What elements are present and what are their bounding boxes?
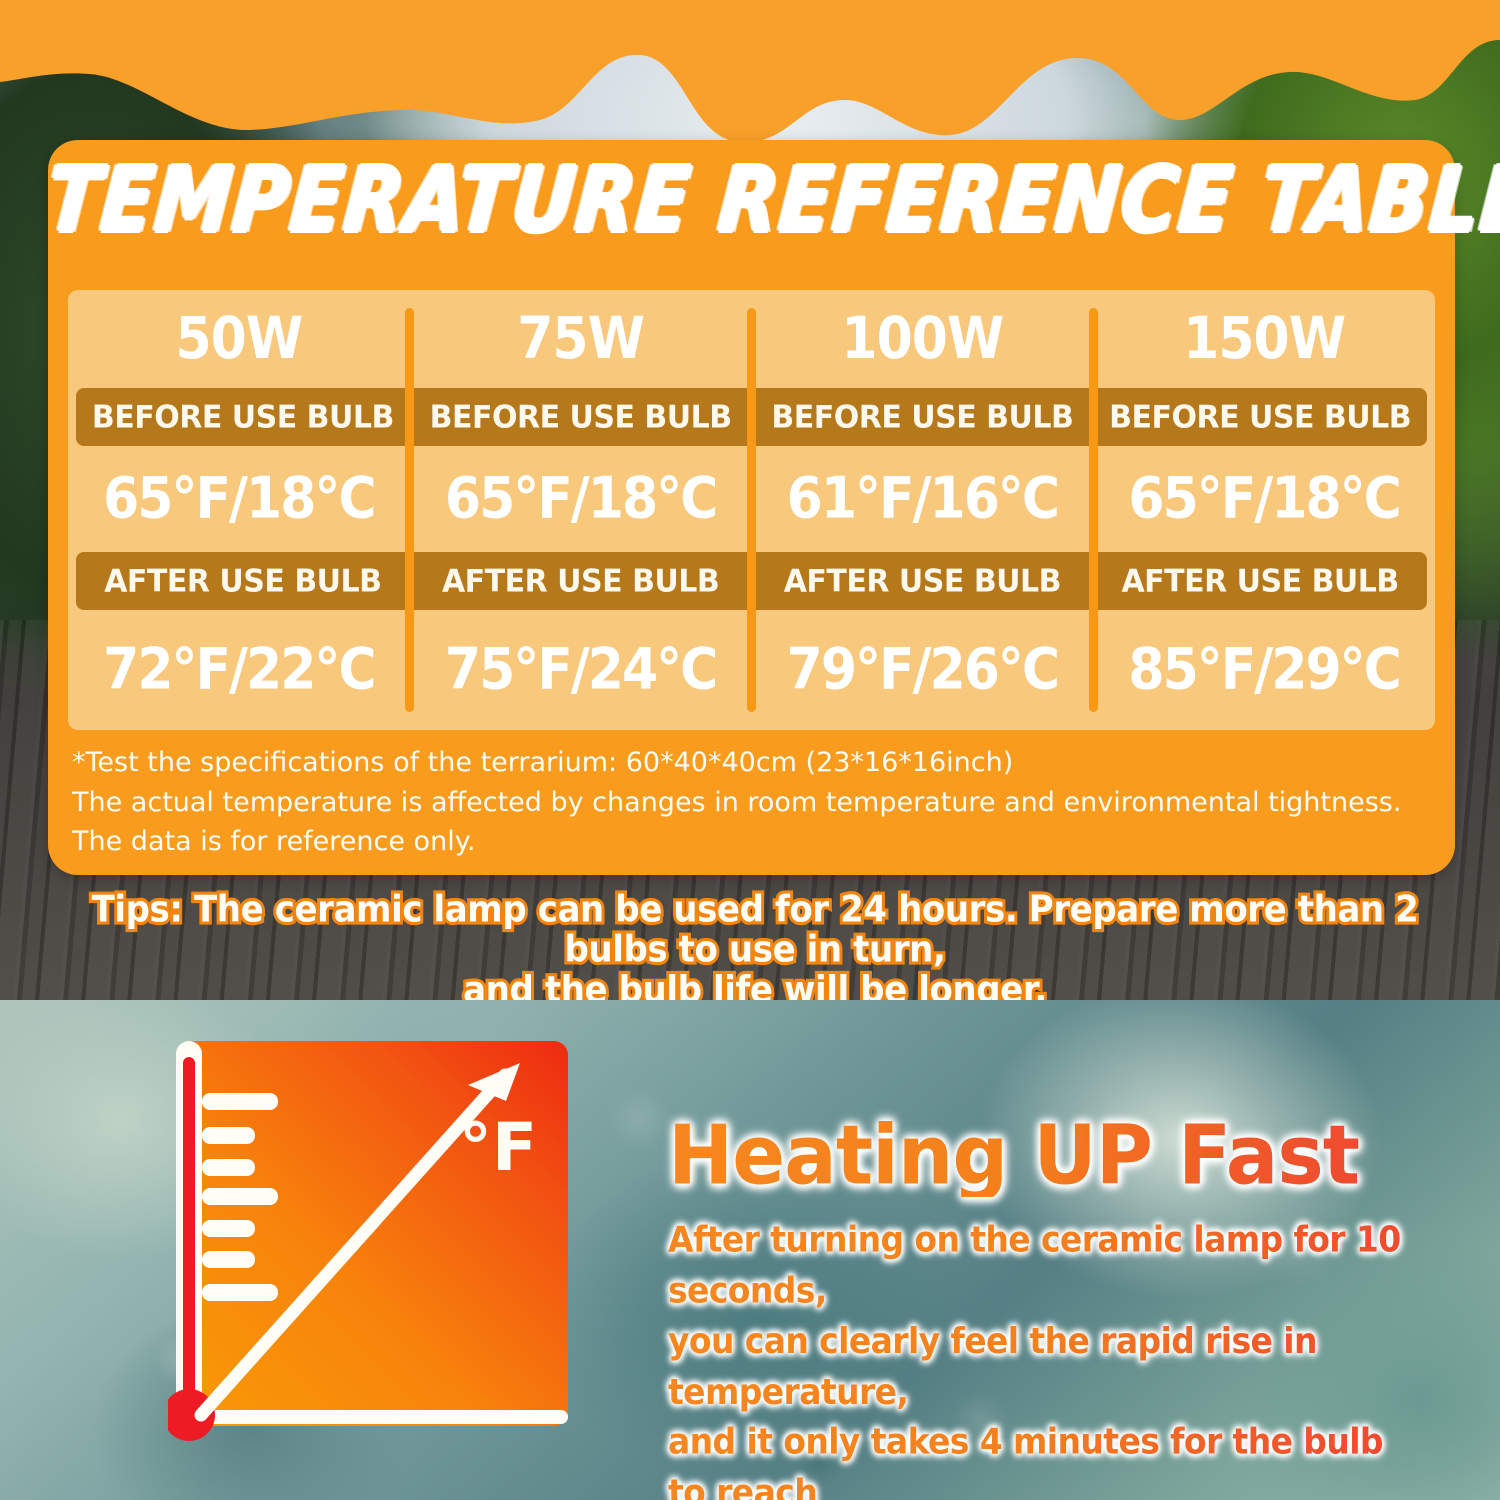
table-row: 65°F/18°C bbox=[410, 446, 752, 552]
column-divider bbox=[747, 308, 756, 712]
table-row: 61°F/16°C bbox=[752, 446, 1094, 552]
table-row: BEFORE USE BULB bbox=[752, 388, 1094, 446]
before-use-value: 61°F/16°C bbox=[787, 466, 1058, 532]
temperature-table: 50W 75W 100W 150W BEFORE USE BULB BEFORE… bbox=[68, 290, 1435, 730]
table-row: AFTER USE BULB bbox=[410, 552, 752, 610]
temperature-card: TEMPERATURE REFERENCE TABLE 50W 75W 100W… bbox=[48, 140, 1455, 875]
tips-text: Tips: The ceramic lamp can be used for 2… bbox=[50, 890, 1460, 1000]
table-row: 150W bbox=[1093, 290, 1435, 388]
unit-label-fahrenheit: °F bbox=[459, 1109, 537, 1186]
wattage-label: 50W bbox=[176, 305, 303, 372]
table-row: BEFORE USE BULB bbox=[68, 388, 410, 446]
table-row: 65°F/18°C bbox=[68, 446, 410, 552]
table-row: 75°F/24°C bbox=[410, 610, 752, 730]
table-row: AFTER USE BULB bbox=[752, 552, 1094, 610]
column-divider bbox=[405, 308, 414, 712]
before-use-label: BEFORE USE BULB bbox=[92, 399, 394, 436]
page-title: TEMPERATURE REFERENCE TABLE bbox=[44, 155, 1459, 245]
table-row: 65°F/18°C bbox=[1093, 446, 1435, 552]
before-use-label: BEFORE USE BULB bbox=[430, 399, 732, 436]
after-use-value: 72°F/22°C bbox=[103, 637, 374, 703]
before-use-label: BEFORE USE BULB bbox=[771, 399, 1073, 436]
after-use-value: 85°F/29°C bbox=[1128, 637, 1399, 703]
heating-headline: Heating UP Fast bbox=[668, 1115, 1448, 1197]
table-row: 72°F/22°C bbox=[68, 610, 410, 730]
table-footnote: *Test the specifications of the terrariu… bbox=[72, 743, 1432, 862]
temperature-reference-section: TEMPERATURE REFERENCE TABLE 50W 75W 100W… bbox=[0, 0, 1500, 1000]
table-row: 85°F/29°C bbox=[1093, 610, 1435, 730]
table-row: 50W bbox=[68, 290, 410, 388]
table-row: BEFORE USE BULB bbox=[1093, 388, 1435, 446]
before-use-value: 65°F/18°C bbox=[1128, 466, 1399, 532]
table-row: 75W bbox=[410, 290, 752, 388]
heating-description: After turning on the ceramic lamp for 10… bbox=[668, 1215, 1428, 1500]
table-row: AFTER USE BULB bbox=[68, 552, 410, 610]
wattage-label: 75W bbox=[517, 305, 644, 372]
column-divider bbox=[1089, 308, 1098, 712]
thermometer-graph-icon: °F bbox=[168, 1035, 578, 1450]
after-use-value: 75°F/24°C bbox=[445, 637, 716, 703]
table-row: AFTER USE BULB bbox=[1093, 552, 1435, 610]
table-row: BEFORE USE BULB bbox=[410, 388, 752, 446]
after-use-value: 79°F/26°C bbox=[787, 637, 1058, 703]
before-use-value: 65°F/18°C bbox=[103, 466, 374, 532]
before-use-label: BEFORE USE BULB bbox=[1109, 399, 1411, 436]
before-use-value: 65°F/18°C bbox=[445, 466, 716, 532]
table-row: 79°F/26°C bbox=[752, 610, 1094, 730]
after-use-label: AFTER USE BULB bbox=[1121, 563, 1398, 600]
table-row: 100W bbox=[752, 290, 1094, 388]
wattage-label: 100W bbox=[841, 305, 1003, 372]
after-use-label: AFTER USE BULB bbox=[104, 563, 381, 600]
wattage-label: 150W bbox=[1183, 305, 1345, 372]
after-use-label: AFTER USE BULB bbox=[442, 563, 719, 600]
after-use-label: AFTER USE BULB bbox=[784, 563, 1061, 600]
